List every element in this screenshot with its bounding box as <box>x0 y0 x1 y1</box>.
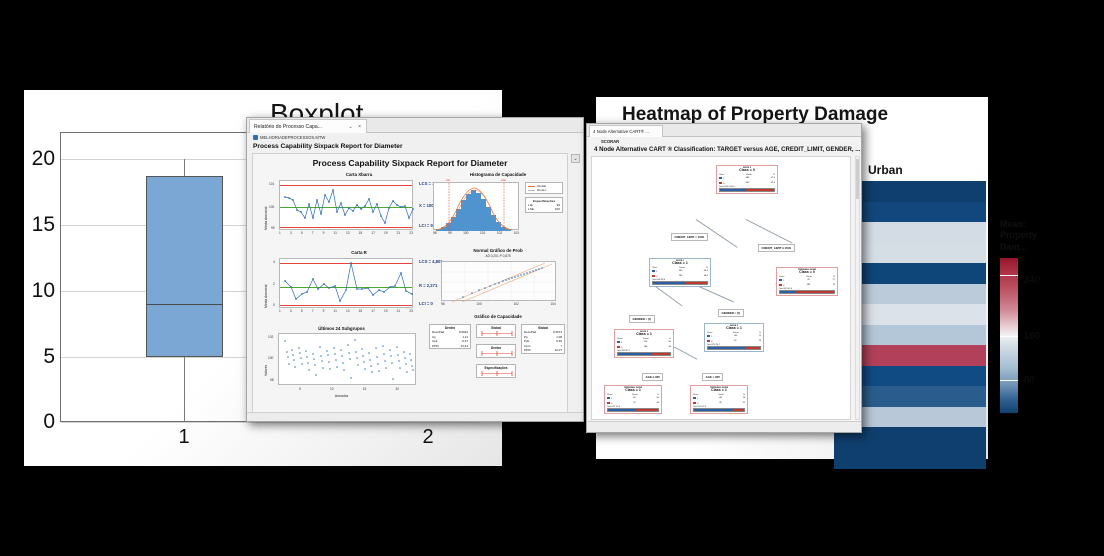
histogram-legend: Global Dentro <box>525 182 563 194</box>
y-tick-10: 10 <box>32 279 55 303</box>
tab-label: 4 Node Alternative CART® ... <box>593 129 649 134</box>
xt: 1 <box>279 231 281 235</box>
xt: 17 <box>371 231 375 235</box>
range-global-line <box>477 330 515 337</box>
colorbar-tick-80: 80 <box>1024 374 1035 385</box>
cart-node-1[interactable]: NODE 1 Class = 1 ClassCount% 136060,4 02… <box>649 258 711 287</box>
xt: 5 <box>301 231 303 235</box>
xt: 102 <box>514 302 519 306</box>
boxplot-whisker-upper <box>184 159 185 176</box>
xbar-series <box>280 181 414 231</box>
cart-split-label: GENDER = (f) <box>629 315 655 323</box>
bar-class0 <box>795 291 834 293</box>
capability-range-spec: Especificações <box>476 364 516 378</box>
bar-class0 <box>652 353 670 355</box>
r-ytick-4: 4 <box>273 260 275 264</box>
minitab-tab-bar: Relatório do Processo Capa... ⌄ × <box>247 118 583 133</box>
tab-controls[interactable]: ⌄ × <box>349 124 364 130</box>
xt: 15 <box>363 387 367 391</box>
node-distribution-bar <box>719 188 775 192</box>
probplot-subtitle: AD 0,201 P 0,878 <box>429 254 567 258</box>
subgroups-title: Últimos 24 Subgrupos <box>259 326 424 331</box>
xt: 20 <box>395 387 399 391</box>
cart-node-terminal-2[interactable]: TERMINAL NODE Class = 0 ClassCount% 1262… <box>776 267 838 296</box>
heatmap-column-header-urban: Urban <box>868 163 903 177</box>
minitab-status-bar <box>247 412 583 421</box>
r-plot-area <box>279 258 413 308</box>
probplot-title: Normal Gráfico de Prob <box>429 248 567 253</box>
y-tick-15: 15 <box>32 213 55 237</box>
r-ytick-2: 2 <box>273 282 275 286</box>
node-distribution-bar <box>617 352 671 356</box>
node-distribution-bar <box>652 281 708 285</box>
xt: 103 <box>514 231 519 235</box>
xbar-plot-area <box>279 180 413 230</box>
cart-split-label: GENDER = (f) <box>718 309 744 317</box>
cart-tree-canvas[interactable]: NODE 0 Class = 0 ClassCount% 148647,6 05… <box>591 156 851 420</box>
heatmap-row <box>834 427 986 469</box>
cart-node-terminal-6[interactable]: TERMINAL NODE Class = 1 ClassCount% 1605… <box>604 385 662 414</box>
cart-subhead: SCORAR <box>601 139 619 144</box>
scrollbar-thumb[interactable] <box>856 159 859 199</box>
capability-title: Gráfico de Capacidade <box>429 314 567 319</box>
bar-class0 <box>745 347 760 349</box>
colorbar-notch <box>1000 380 1018 382</box>
r-ylabel: Média Amostral <box>264 285 268 308</box>
r-xticks: 1 3 5 7 9 11 13 15 17 19 21 23 <box>279 309 413 313</box>
xt: 21 <box>397 309 401 313</box>
cart-split-label: AGE ≤ 325 <box>642 373 663 381</box>
node-distribution-bar <box>607 408 659 412</box>
node-table: ClassCount% 16056 04744 <box>605 393 661 406</box>
xt: 19 <box>384 231 388 235</box>
r-series <box>280 259 414 309</box>
connector <box>746 219 793 243</box>
legend-swatch-within <box>528 190 535 191</box>
boxplot-whisker-lower <box>184 357 185 422</box>
gridline-0 <box>61 422 480 423</box>
bar-class0 <box>746 189 774 191</box>
worksheet-line: MELHORIADEPROCESSOS.MTW <box>253 135 325 140</box>
xbar-xticks: 1 3 5 7 9 11 13 15 17 19 21 23 <box>279 231 413 235</box>
xt: 9 <box>323 231 325 235</box>
range-within-line <box>477 350 515 357</box>
cart-node-root[interactable]: NODE 0 Class = 0 ClassCount% 148647,6 05… <box>716 165 778 194</box>
capability-range-within: Dentro <box>476 344 516 358</box>
overall-v4: 12,07 <box>554 348 562 353</box>
xt: 100 <box>463 231 468 235</box>
range-spec-line <box>477 370 515 377</box>
spec-mark-lie: LIE <box>446 179 450 182</box>
histogram-title: Histograma de Capacidade <box>429 172 567 177</box>
spec-row-1-key: LSE <box>528 207 534 211</box>
xt: 3 <box>290 231 292 235</box>
cart-title: 4 Node Alternative CART ® Classification… <box>594 146 860 153</box>
bar-class1 <box>618 353 652 355</box>
pp-xticks: 98 100 102 104 <box>441 302 556 306</box>
colorbar-notch <box>1000 336 1018 338</box>
xt: 15 <box>359 231 363 235</box>
bar-class0 <box>636 409 658 411</box>
sg-ytick-100: 100 <box>268 356 273 360</box>
bar-class1 <box>780 291 795 293</box>
r-ytick-0: 0 <box>273 303 275 307</box>
command-title: Process Capability Sixpack Report for Di… <box>253 143 403 150</box>
worksheet-name: MELHORIADEPROCESSOS.MTW <box>260 135 325 140</box>
xbar-ytick-99: 99 <box>271 226 275 230</box>
node-table: ClassCount% 12627 039973 <box>777 275 837 288</box>
xt: 3 <box>290 309 292 313</box>
cart-vertical-scrollbar[interactable] <box>855 156 860 420</box>
legend-title-line1: Mean: <box>1000 219 1037 230</box>
subgroups-panel: Últimos 24 Subgrupos Valores 102 100 98 <box>259 326 424 406</box>
probplot-panel: Normal Gráfico de Prob AD 0,201 P 0,878 <box>429 248 567 310</box>
legend-swatch-global <box>528 186 535 187</box>
bar-class1 <box>720 189 746 191</box>
colorbar-notch <box>1000 275 1018 277</box>
cart-classification-window[interactable]: 4 Node Alternative CART® ... SCORAR 4 No… <box>586 123 862 433</box>
heatmap-legend: Mean: Property Dam... 240 160 80 <box>1000 219 1037 413</box>
cart-node-5[interactable]: NODE 5 Class = 1 ClassCount% 115071 0612… <box>704 323 764 352</box>
subgroups-ylabel: Valores <box>264 365 268 376</box>
cart-tab-bar: 4 Node Alternative CART® ... <box>587 124 861 137</box>
xt: 100 <box>476 302 481 306</box>
xt: 23 <box>409 231 413 235</box>
xt: 17 <box>371 309 375 313</box>
node-table: ClassCount% 115071 06129 <box>705 331 763 344</box>
capability-panel: Gráfico de Capacidade Dentro DesvPad0,59… <box>429 314 567 409</box>
xt: 7 <box>312 309 314 313</box>
histogram-spec-box: Especificações LIE 99 LSE 100 <box>525 197 563 213</box>
subgroups-plot-area <box>278 333 416 385</box>
boxplot-box-1 <box>146 176 223 357</box>
y-tick-5: 5 <box>43 345 55 369</box>
xt: 101 <box>480 231 485 235</box>
y-tick-0: 0 <box>43 410 55 434</box>
legend-within-label: Dentro <box>537 188 546 192</box>
worksheet-icon <box>253 135 258 140</box>
xt: 11 <box>334 231 337 235</box>
colorbar-tick-160: 160 <box>1024 330 1040 341</box>
sg-xticks: 5 10 15 20 <box>299 387 399 391</box>
cart-split-label: CREDIT_LIMIT > 1540 <box>671 233 708 241</box>
bar-class1 <box>653 282 686 284</box>
x-tick-1: 1 <box>178 426 189 449</box>
sixpack-title: Process Capability Sixpack Report for Di… <box>253 158 567 168</box>
minitab-capability-window[interactable]: Relatório do Processo Capa... ⌄ × MELHOR… <box>246 117 584 422</box>
boxplot-median-1 <box>146 304 223 305</box>
xbar-ytick-100: 100 <box>269 205 274 209</box>
sg-ytick-98: 98 <box>270 378 274 382</box>
spec-row-1-val: 100 <box>555 207 560 211</box>
colorbar-tick-240: 240 <box>1024 274 1040 285</box>
xt: 9 <box>323 309 325 313</box>
xt: 15 <box>359 309 363 313</box>
bar-class0 <box>686 282 707 284</box>
node-distribution-bar <box>779 290 835 294</box>
tab-label: Relatório do Processo Capa... <box>254 124 322 130</box>
xt: 1 <box>279 309 281 313</box>
probplot-plot-area <box>441 261 556 301</box>
node-distribution-bar <box>693 408 745 412</box>
xt: 7 <box>312 231 314 235</box>
capability-range-global: Global <box>476 324 516 338</box>
xt: 99 <box>448 231 452 235</box>
node-table: ClassCount% 110178 02822 <box>691 393 747 406</box>
within-v3: 13,43 <box>460 344 468 349</box>
screenshot-stage: Boxplot 20 15 10 5 0 1 2 Heatmap of Prop… <box>0 0 1104 556</box>
within-k3: PPM <box>432 344 439 349</box>
cart-status-bar <box>587 421 861 432</box>
subgroups-scatter <box>279 334 417 386</box>
xt: 98 <box>441 302 445 306</box>
xt: 5 <box>301 309 303 313</box>
histogram-panel: Histograma de Capacidade <box>429 172 567 244</box>
cart-node-terminal-7[interactable]: TERMINAL NODE Class = 1 ClassCount% 1101… <box>690 385 748 414</box>
xt: 10 <box>330 387 334 391</box>
histogram-plot-area: LIE LSE <box>433 182 519 230</box>
hist-xticks: 98 99 100 101 102 103 <box>433 231 519 235</box>
probplot-series <box>442 262 557 302</box>
sixpack-canvas: Process Capability Sixpack Report for Di… <box>252 153 568 415</box>
xt: 104 <box>551 302 556 306</box>
xbar-ylabel: Média Amostral <box>264 207 268 230</box>
histogram-bars <box>434 183 520 231</box>
cart-node-3[interactable]: NODE 3 Class = 1 ClassCount% 121066 0108… <box>614 329 674 358</box>
xbar-ytick-101: 101 <box>269 182 274 186</box>
bar-class1 <box>608 409 636 411</box>
heatmap-colorbar <box>1000 258 1018 413</box>
overall-k4: PPM <box>524 348 531 353</box>
xt: 13 <box>346 231 350 235</box>
capability-overall-box: Global DesvPad0,5673 Pp1,08 Ppk0,36 Cpm*… <box>521 324 565 354</box>
node-table: ClassCount% 136060,4 023639,6 <box>650 266 710 279</box>
collapse-button[interactable]: ⌄ <box>571 154 580 163</box>
subgroups-xlabel: Amostra <box>259 394 424 398</box>
xt: 13 <box>346 309 350 313</box>
bar-class0 <box>733 409 744 411</box>
capability-within-box: Dentro DesvPad0,5944 Cp1,11 Cpk0,37 PPM1… <box>429 324 471 349</box>
cart-split-label: AGE > 325 <box>702 373 723 381</box>
xt: 5 <box>299 387 301 391</box>
node-table: ClassCount% 121066 010834 <box>615 337 673 350</box>
xt: 98 <box>433 231 437 235</box>
sg-ytick-102: 102 <box>268 335 273 339</box>
bar-class1 <box>708 347 745 349</box>
xt: 11 <box>334 309 337 313</box>
xt: 23 <box>409 309 413 313</box>
cart-split-label: CREDIT_LIMIT ≤ 1540 <box>758 244 795 252</box>
xt: 19 <box>384 309 388 313</box>
bar-class1 <box>694 409 733 411</box>
node-table: ClassCount% 148647,6 053552,4 <box>717 173 777 186</box>
xt: 102 <box>497 231 502 235</box>
spec-mark-lse: LSE <box>501 179 506 182</box>
node-distribution-bar <box>707 346 761 350</box>
xt: 21 <box>397 231 401 235</box>
tab-cart-classification[interactable]: 4 Node Alternative CART® ... <box>589 125 663 137</box>
tab-process-capability-report[interactable]: Relatório do Processo Capa... ⌄ × <box>249 119 367 133</box>
y-tick-20: 20 <box>32 147 55 171</box>
x-tick-2: 2 <box>422 426 433 449</box>
legend-title-line2: Property Dam... <box>1000 230 1037 253</box>
